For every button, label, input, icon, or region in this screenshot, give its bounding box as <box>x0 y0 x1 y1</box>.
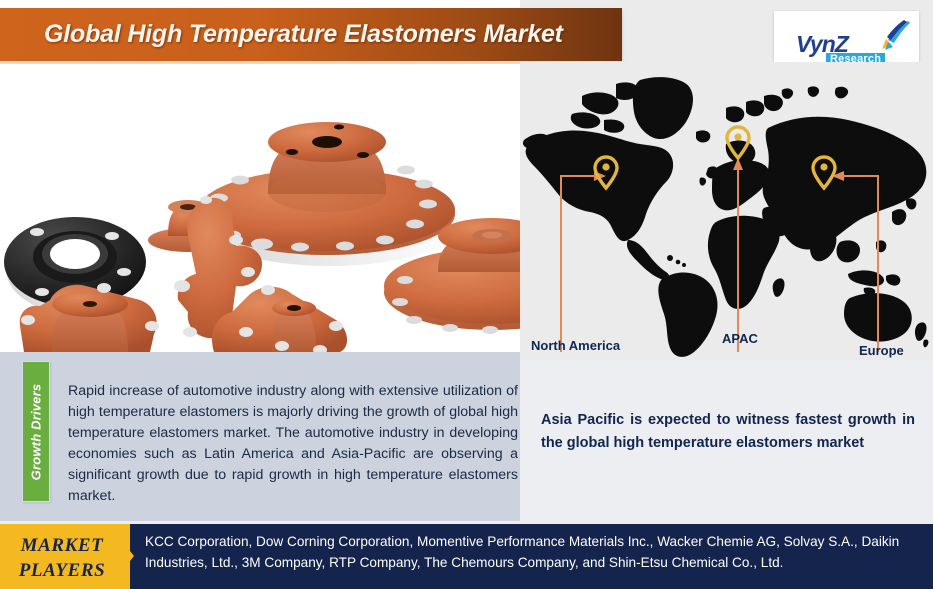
market-players-flag-label: MARKET PLAYERS <box>12 533 112 583</box>
growth-drivers-tab: Growth Drivers <box>22 361 50 502</box>
page-title: Global High Temperature Elastomers Marke… <box>44 20 563 49</box>
growth-drivers-tab-label: Growth Drivers <box>29 383 44 480</box>
world-map <box>520 62 933 360</box>
map-label-north-america: North America <box>531 338 620 353</box>
infographic-root: Global High Temperature Elastomers Marke… <box>0 0 933 589</box>
rocket-swoosh-icon <box>878 19 912 53</box>
header-banner: Global High Temperature Elastomers Marke… <box>0 8 622 61</box>
map-label-europe: Europe <box>859 343 904 358</box>
market-players-flag-line-2: PLAYERS <box>12 558 112 583</box>
product-photo <box>0 64 520 352</box>
map-label-apac: APAC <box>722 331 758 346</box>
market-players-list: KCC Corporation, Dow Corning Corporation… <box>145 531 925 573</box>
world-map-svg <box>520 62 933 360</box>
elastomer-parts-illustration <box>0 64 520 352</box>
market-players-flag-line-1: MARKET <box>12 533 112 558</box>
growth-drivers-body: Rapid increase of automotive industry al… <box>68 381 518 507</box>
regional-highlight-text: Asia Pacific is expected to witness fast… <box>541 409 915 455</box>
